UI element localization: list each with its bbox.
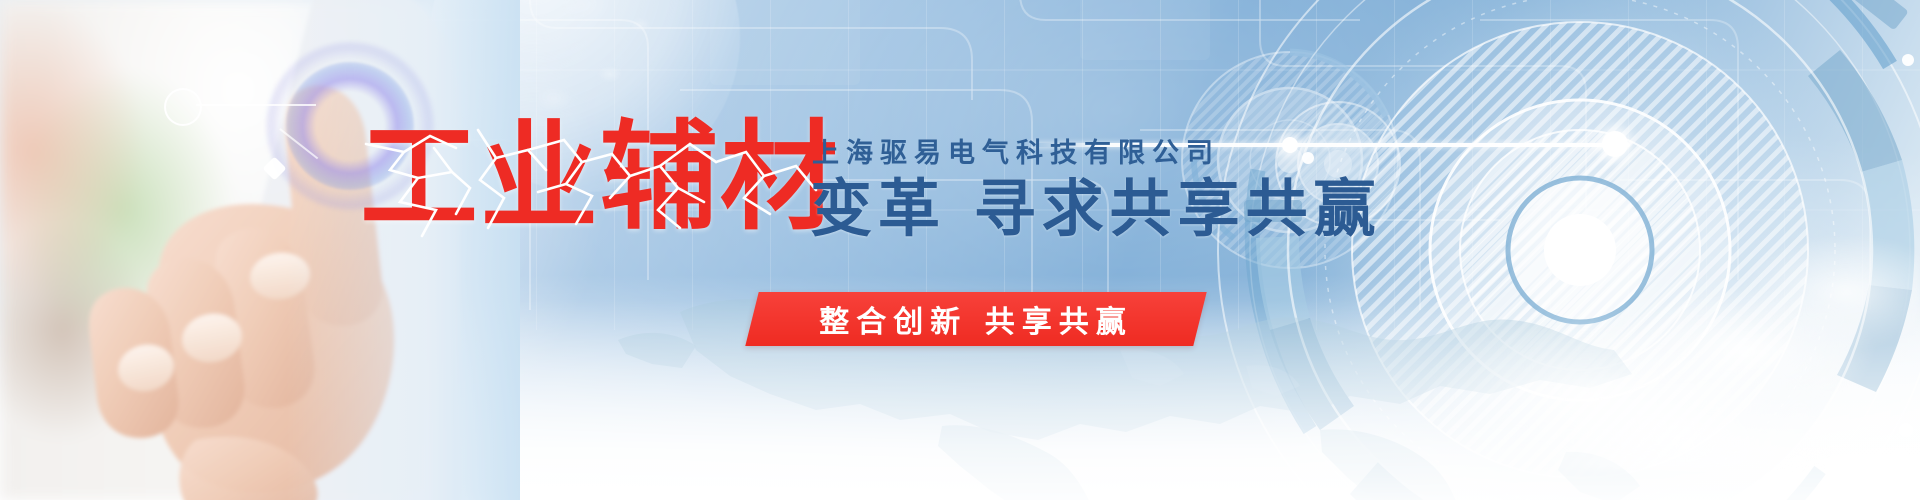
node-circle-marker <box>164 88 202 126</box>
beam-node-mid <box>1282 137 1298 153</box>
hero-banner: 工业辅材 上海驱易电气科技有限公司 变革 寻求共享共赢 整合创新 <box>0 0 1920 500</box>
hand-touch-screen-photo <box>0 0 520 500</box>
photo-right-fade <box>0 0 520 500</box>
ribbon-banner-text: 整合创新 共享共赢 <box>752 292 1200 346</box>
page-title: 工业辅材 <box>360 118 840 236</box>
node-connector-line-a <box>196 104 316 106</box>
headline-slogan: 变革 寻求共享共赢 <box>810 178 1382 240</box>
cloud-layer <box>1300 140 1920 470</box>
company-name: 上海驱易电气科技有限公司 <box>812 140 1220 167</box>
